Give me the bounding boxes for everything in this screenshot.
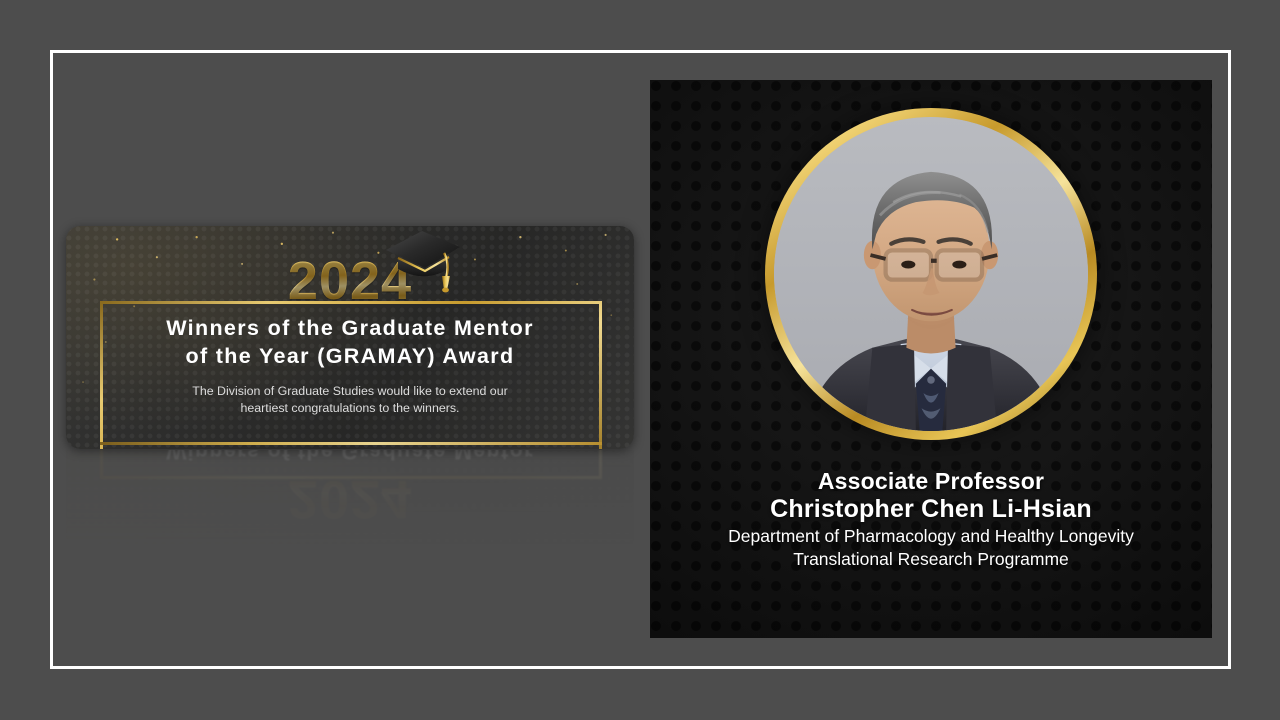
portrait-gold-ring (765, 108, 1097, 440)
graduation-cap-icon (376, 228, 464, 307)
winner-name-block: Associate Professor Christopher Chen Li-… (650, 468, 1212, 570)
portrait-photo (774, 117, 1088, 431)
winner-title: Associate Professor (650, 468, 1212, 495)
winner-department-line-1: Department of Pharmacology and Healthy L… (650, 526, 1212, 547)
award-subtext-line-1: The Division of Graduate Studies would l… (192, 383, 507, 401)
winner-portrait-panel: Associate Professor Christopher Chen Li-… (650, 80, 1212, 638)
award-card-content: 2024 (66, 226, 634, 449)
award-headline: Winners of the Graduate Mentor of the Ye… (166, 314, 534, 371)
award-headline-line-2: of the Year (GRAMAY) Award (166, 342, 534, 370)
award-headline-line-1: Winners of the Graduate Mentor (166, 314, 534, 342)
winner-name: Christopher Chen Li-Hsian (650, 495, 1212, 524)
winner-department-line-2: Translational Research Programme (650, 549, 1212, 570)
award-subtext-line-2: heartiest congratulations to the winners… (192, 400, 507, 418)
award-card-surface: 2024 (66, 226, 634, 449)
award-banner-card: 2024 (66, 226, 634, 449)
year-row: 2024 (288, 246, 412, 308)
slide-canvas: 2024 (0, 0, 1280, 720)
award-subtext: The Division of Graduate Studies would l… (192, 383, 507, 418)
